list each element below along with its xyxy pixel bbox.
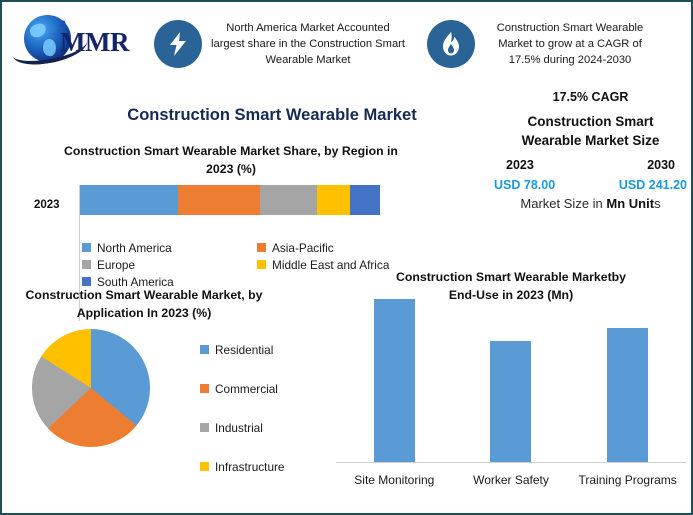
legend-swatch (200, 423, 209, 432)
region-category-label: 2023 (34, 199, 60, 211)
legend-swatch (200, 462, 209, 471)
units-bold: Mn Unit (606, 196, 654, 211)
legend-label: Residential (215, 343, 273, 357)
legend-item-europe: Europe (82, 258, 257, 272)
bar-worker-safety (490, 341, 531, 462)
forecast-year-label: 2030 (647, 158, 675, 172)
market-size-values: USD 78.00 USD 241.20 (488, 172, 693, 192)
market-size-heading: Construction Smart Wearable Market Size (488, 112, 693, 150)
header-fact-text: Construction Smart Wearable Market to gr… (484, 20, 656, 69)
bar-training-programs (607, 328, 648, 462)
end-use-baseline (336, 462, 686, 463)
legend-label: Infrastructure (215, 460, 285, 474)
bar-site-monitoring (374, 299, 415, 462)
header-bar: ’ MMR North America Market Accounted lar… (2, 2, 693, 86)
market-size-heading-line1: Construction Smart (488, 112, 693, 131)
column-slot (338, 292, 450, 462)
legend-swatch (200, 384, 209, 393)
region-chart-title: Construction Smart Wearable Market Share… (18, 142, 398, 179)
legend-item-residential: Residential (200, 343, 285, 357)
units-prefix: Market Size in (520, 196, 606, 211)
market-size-years: 2023 2030 (488, 150, 693, 172)
legend-item-commercial: Commercial (200, 382, 285, 396)
region-segment-north-america (79, 185, 178, 215)
pie-legend: Residential Commercial Industrial Infras… (200, 343, 285, 474)
market-size-units: Market Size in Mn Units (488, 192, 693, 211)
flame-icon (427, 20, 475, 68)
legend-swatch (257, 243, 266, 252)
end-use-chart: Construction Smart Wearable Marketby End… (332, 268, 690, 508)
header-fact-north-america: North America Market Accounted largest s… (154, 20, 405, 69)
logo-text: MMR (60, 27, 129, 58)
pie-chart-title: Construction Smart Wearable Market, by A… (10, 286, 278, 323)
legend-label: North America (97, 241, 172, 255)
region-segment-middle-east-africa (317, 185, 350, 215)
legend-label: Europe (97, 258, 135, 272)
end-use-category-labels: Site Monitoring Worker Safety Training P… (336, 473, 686, 487)
units-suffix: s (654, 196, 661, 211)
category-label-site-monitoring: Site Monitoring (338, 473, 450, 487)
region-segment-europe (260, 185, 317, 215)
mmr-logo: ’ MMR (8, 9, 148, 79)
end-use-plot-area: Site Monitoring Worker Safety Training P… (332, 311, 690, 489)
region-segment-south-america (350, 185, 380, 215)
page-title: Construction Smart Wearable Market (62, 106, 482, 125)
category-label-training-programs: Training Programs (572, 473, 684, 487)
column-slot (572, 292, 684, 462)
base-year-label: 2023 (506, 158, 534, 172)
header-fact-text: North America Market Accounted largest s… (211, 20, 405, 69)
pie-row: Residential Commercial Industrial Infras… (10, 329, 320, 474)
legend-item-north-america: North America (82, 241, 257, 255)
market-size-panel: 17.5% CAGR Construction Smart Wearable M… (488, 90, 693, 211)
region-segment-asia-pacific (178, 185, 259, 215)
market-size-heading-line2: Wearable Market Size (488, 131, 693, 150)
legend-item-industrial: Industrial (200, 421, 285, 435)
forecast-value: USD 241.20 (619, 178, 687, 192)
region-stacked-bar (79, 185, 380, 215)
pie-graphic (32, 329, 150, 447)
category-label-worker-safety: Worker Safety (455, 473, 567, 487)
end-use-columns (336, 292, 686, 462)
legend-label: Industrial (215, 421, 263, 435)
legend-label: Asia-Pacific (272, 241, 334, 255)
cagr-value: 17.5% CAGR (488, 90, 693, 104)
column-slot (455, 292, 567, 462)
legend-item-infrastructure: Infrastructure (200, 460, 285, 474)
region-share-chart: Construction Smart Wearable Market Share… (18, 142, 398, 289)
legend-swatch (257, 260, 266, 269)
lightning-bolt-icon (154, 20, 202, 68)
region-plot-area: 2023 (18, 185, 398, 229)
legend-swatch (82, 260, 91, 269)
application-share-chart: Construction Smart Wearable Market, by A… (10, 286, 320, 474)
legend-swatch (200, 345, 209, 354)
end-use-title-line1: Construction Smart Wearable Marketby (344, 268, 678, 286)
legend-item-asia-pacific: Asia-Pacific (257, 241, 432, 255)
legend-swatch (82, 243, 91, 252)
header-fact-cagr: Construction Smart Wearable Market to gr… (427, 20, 656, 69)
base-value: USD 78.00 (494, 178, 555, 192)
infographic-page: ’ MMR North America Market Accounted lar… (0, 0, 693, 515)
legend-label: Commercial (215, 382, 278, 396)
